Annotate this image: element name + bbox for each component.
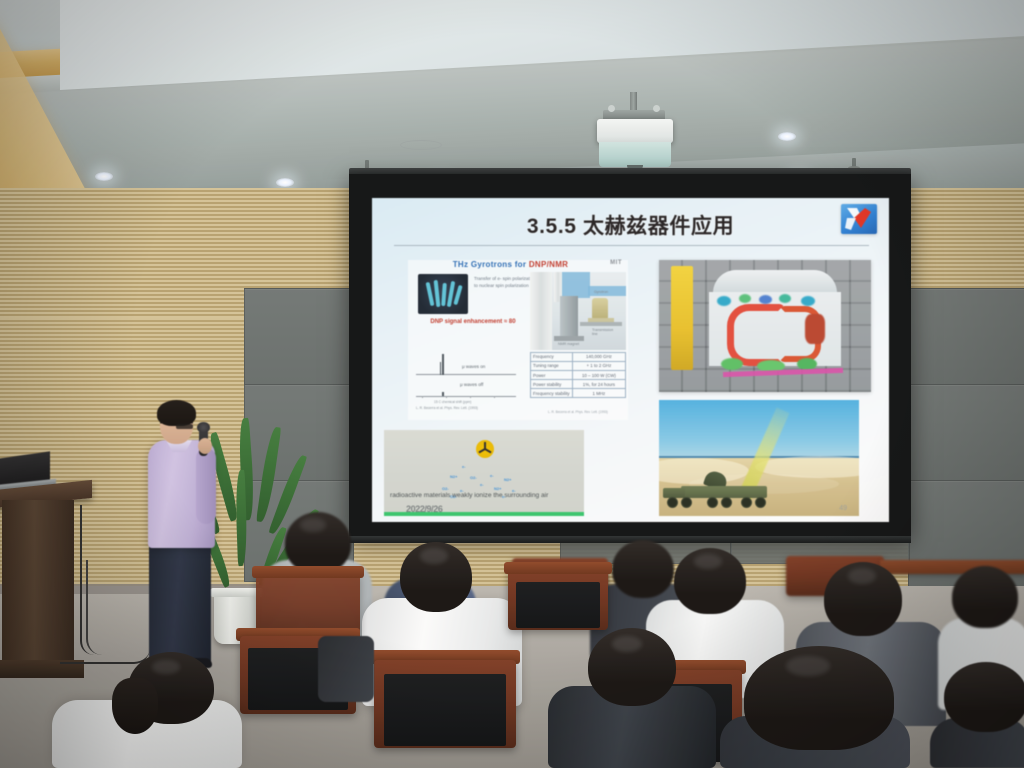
green-accent-bar [384, 512, 584, 516]
ion-particle: e- [462, 464, 466, 469]
microphone-head [197, 422, 210, 433]
ion-particle: N2+ [450, 474, 457, 479]
spec-key: Frequency stability [531, 389, 573, 398]
table-row: Frequency stability1 MHz [531, 389, 626, 398]
spectrum-axis-label: 15 C chemical shift (ppm) [434, 400, 471, 404]
presenter-arm [196, 448, 216, 524]
ion-particle: N2+ [504, 477, 511, 482]
radioactive-ionization-image: e- N2+ O2- e- N2+ e- O2- e- N2+ e- O2- e… [384, 430, 584, 516]
spec-value: 1 MHz [572, 389, 625, 398]
eyeglasses [176, 424, 193, 429]
tokamak-vessel [705, 270, 845, 378]
chair-top-rail [252, 566, 364, 578]
table-row: Tuning range+ 1 to 2 GHz [531, 362, 626, 371]
slide-number: 49 [839, 505, 847, 512]
spec-value: 140,000 GHz [572, 353, 625, 362]
tokamak-base-rail [723, 368, 843, 377]
ceiling [0, 0, 1024, 195]
projection-screen: 3.5.5 太赫兹器件应用 THz Gyrotrons for DNP/NMR … [372, 198, 889, 522]
institute-logo [841, 204, 877, 234]
military-vehicle [663, 482, 773, 506]
ion-particle: N2+ [494, 486, 501, 491]
nmr-spectrum-plot: μ waves on μ waves off 15 C chemical shi… [416, 352, 522, 410]
table-row: Power10 – 100 W (CW) [531, 371, 626, 380]
mit-logo-mark: MIT [610, 260, 622, 266]
attendee-head [612, 540, 674, 598]
radiation-trefoil-icon [476, 440, 494, 458]
slide-title-divider [394, 245, 869, 246]
truck-bed [681, 486, 767, 498]
label-nmr-magnet: NMR magnet [558, 342, 579, 346]
chair-seat [384, 674, 506, 746]
power-cable [86, 560, 102, 655]
floor-cable [60, 648, 150, 664]
acoustic-panel [244, 288, 354, 386]
ion-particle: O2- [470, 475, 477, 480]
presenter-hair [157, 400, 196, 426]
table-citation: L. R. Becerra et al. Phys. Rev. Lett. (1… [548, 410, 608, 414]
slide-panel-thz-gyrotrons: THz Gyrotrons for DNP/NMR MIT Transfer o… [408, 260, 628, 420]
table-row: Frequency140,000 GHz [531, 353, 626, 362]
ceiling-vent [400, 140, 442, 150]
ceiling-projector [597, 119, 673, 143]
lecture-hall-scene: 3.5.5 太赫兹器件应用 THz Gyrotrons for DNP/NMR … [0, 0, 1024, 768]
chair-top-rail [504, 562, 612, 574]
tokamak-yellow-structure [671, 266, 693, 370]
spec-value: + 1 to 2 GHz [572, 362, 625, 371]
spectrum-citation: L. R. Becerra et al. Phys. Rev. Lett. (1… [416, 406, 522, 410]
table-row: Power stability1%, for 24 hours [531, 380, 626, 389]
ion-particle: e- [480, 482, 484, 487]
table-body: Frequency140,000 GHz Tuning range+ 1 to … [531, 353, 626, 398]
projector-lens-housing [599, 142, 671, 167]
spec-key: Power stability [531, 380, 573, 389]
radioactive-caption: radioactive materials weakly ionize the … [390, 492, 580, 501]
spec-key: Frequency [531, 353, 573, 362]
attendee-head [952, 566, 1018, 628]
plasma-d-shape [727, 304, 785, 366]
desert-beam-vehicle-image: 49 [659, 400, 859, 516]
ponytail [112, 678, 158, 734]
downlight [276, 178, 294, 187]
label-transmission-line: Transmission line [592, 328, 618, 336]
sprinkler-head [852, 158, 856, 168]
lecture-podium [2, 500, 74, 672]
thz-heading-prefix: THz Gyrotrons for [453, 260, 529, 269]
thz-mechanism-note: Transfer of e- spin polarization to nucl… [474, 276, 536, 290]
dnp-enhancement-annotation: DNP signal enhancement ≈ 80 [428, 318, 518, 326]
label-gyrotron: Gyrotron [594, 290, 608, 294]
spectrum-label-on: μ waves on [462, 364, 485, 369]
spec-value: 1%, for 24 hours [572, 380, 625, 389]
slide-title: 3.5.5 太赫兹器件应用 [372, 210, 889, 240]
acoustic-panel [908, 384, 1024, 482]
gyrotron-rig-photo: Gyrotron NMR magnet Transmission line [530, 272, 626, 350]
presenter-trousers [149, 540, 211, 664]
attendee-head [944, 662, 1024, 732]
ion-particle: O2- [442, 486, 449, 491]
protein-structure-image [418, 274, 468, 314]
downlight [95, 172, 113, 181]
tokamak-cutaway-image [659, 260, 871, 392]
ion-particle: e- [490, 473, 494, 478]
spec-value: 10 – 100 W (CW) [572, 371, 625, 380]
thz-panel-heading: THz Gyrotrons for DNP/NMR [408, 260, 613, 269]
spec-key: Tuning range [531, 362, 573, 371]
backpack [318, 636, 374, 702]
chair-seat [516, 582, 600, 628]
spec-key: Power [531, 371, 573, 380]
acoustic-panel [908, 288, 1024, 386]
spectrum-label-off: μ waves off [460, 382, 483, 387]
thz-heading-highlight: DNP/NMR [529, 260, 568, 269]
presenter-hand [198, 438, 212, 454]
gyrotron-spec-table: Frequency140,000 GHz Tuning range+ 1 to … [530, 352, 626, 398]
downlight [778, 132, 796, 141]
